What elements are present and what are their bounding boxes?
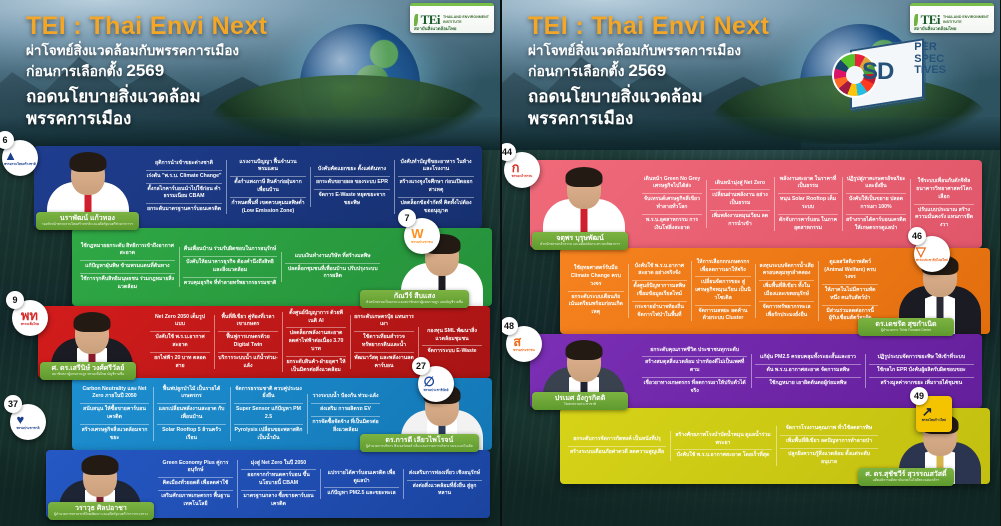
policy-point: กระจายอำนาจท้องถิ่น จัดการไฟป่าในพื้นที่ xyxy=(632,301,688,322)
infographic-board: TEI : Thai Envi Next ผ่าโจทย์สิ่งแวดล้อม… xyxy=(0,0,1001,526)
party-logo-mark: Wพรรคประชาชน xyxy=(411,227,432,244)
policy-point: บังคับใช้ พ.ร.บ.อากาศสะอาด อย่างจริงจัง xyxy=(632,261,688,281)
policy-cell[interactable]: แรงงานปัญญา ฟื้นจำนวนพรมแดนตั้งกำแพงภาษี… xyxy=(226,154,310,221)
hero-subtitle-3: ถอดนโยบายสิ่งแวดล้อม xyxy=(26,86,267,108)
policy-point: ออกจากกำหนดคาร์บอน ขึ้นนโยบายนี้ CBAM xyxy=(241,469,316,490)
party-logo-sub: พรรคประชาธิปไตยใหม่ xyxy=(916,259,948,262)
party-number-badge: 6 xyxy=(0,131,14,149)
policy-point: ใช้การรุกคืบสิทธิมนุษยชน ร่วมกฎหมายสิ่งแ… xyxy=(80,273,175,294)
politician-name-bar: ศ. ดร.เสรีนิษ์ วงศ์ศรีวัลย์สมาชิกสภาผู้แ… xyxy=(40,362,136,380)
policy-cell[interactable]: ปฏิรูประบบจัดการขยะพิษ ให้เข้าที่ระบบใช้… xyxy=(865,349,978,392)
policy-point: สร้างศักยภาพโรงบำบัดน้ำหมุน ดูแลน้ำร่วมพ… xyxy=(674,430,772,450)
tei-logo-sub-th: สถาบันสิ่งแวดล้อมไทย xyxy=(414,25,456,32)
policy-point: บริการระบบน้ำ แก้น้ำท่วม-แล้ง xyxy=(218,352,278,373)
politician-position: สมาชิกสภาผู้แทนราษฎร พรรคเพื่อไทย บัญชีร… xyxy=(46,373,130,377)
policy-cell[interactable]: แก้ฝุ่น PM2.5 ครอบคลุมทั้งระยะสั้นและยาว… xyxy=(751,349,864,392)
policy-cell-group: Carbon Neutrality และ Net Zero ภายในปี 2… xyxy=(72,378,388,450)
policy-cell[interactable]: เดินหน้ามุ่งสู่ Net Zeroเปลี่ยนผ่านพลังง… xyxy=(706,175,774,234)
policy-point: ตั้งกลไกคาร์บอนนำไปใช้ก่อน คำธรรมเนียม C… xyxy=(146,183,222,204)
policy-point: แก้ฝุ่น PM2.5 ครอบคลุมทั้งระยะสั้นและยาว xyxy=(755,352,860,364)
policy-point: เดินหน้ามุ่งสู่ Net Zero xyxy=(710,178,770,190)
policy-cell[interactable]: ส่งเสริมการท่องเที่ยว เชิงอนุรักษ์ส่งต่อ… xyxy=(403,465,486,503)
portrait-hair xyxy=(70,152,107,172)
party-logo-pcc-logo[interactable]: ♥พรรคประชาชาติ37 xyxy=(10,404,46,440)
politician-position: รองหัวหน้าพรรครวมไทยสร้างชาติ และอดีตรัฐ… xyxy=(42,223,133,227)
policy-point: เดินหน้า Green No Grey เศรษฐกิจไปได้ส่ง xyxy=(642,174,702,194)
hero-subtitle-2: ก่อนการเลือกตั้ง 2569 xyxy=(528,60,769,83)
policy-cell[interactable]: ลงทุนระบบจัดการน้ำเสีย ครอบคลุมทุกลำคลอง… xyxy=(755,258,819,325)
sd-word-1: PER xyxy=(914,42,946,54)
policy-point: บังคับทำบัญชีขยะอาหาร ในห้างและโรงงาน xyxy=(398,157,474,177)
policy-cell[interactable]: ใช้ระบบเพื่อนกับดักจิทัล ธนาคารวิทยาศาสต… xyxy=(910,173,978,235)
policy-point: ปลดล็อกพลังงานสะอาด ลดค่าไฟฟ้าต่อเนื่อง … xyxy=(286,327,346,355)
hero-year-prefix: ก่อนการเลือกตั้ง xyxy=(528,63,628,79)
policy-point: ยกระดับขยายผล ของระบบ EPR xyxy=(314,176,390,189)
policy-point: มุ่งสู่ Net Zero ในปี 2050 xyxy=(241,458,316,470)
policy-point: วางระบบน้ำ ป้องกัน ท่วม-แล้ง xyxy=(311,391,380,403)
politician-position: ผู้อำนวยการพรรคชาติไทยพัฒนา และอดีตรัฐมน… xyxy=(54,513,148,517)
policy-point: ส่งเสริม การผลิตรถ EV xyxy=(311,403,380,416)
right-panel: TEI : Thai Envi Next ผ่าโจทย์สิ่งแวดล้อม… xyxy=(500,0,1000,526)
portrait-hair xyxy=(566,167,603,187)
policy-point: ให้การเลือกกกเกษตรกร เพื่อลดการเผาให้จริ… xyxy=(695,257,751,277)
policy-point: แปรรายได้คาร์บอนเครดิต เพื่อดูแลป่า xyxy=(324,468,399,488)
policy-point: สร้างระบบเดือนภัยค่าตวดี ลดความสูญเสีย xyxy=(568,446,666,459)
policy-cell[interactable]: Carbon Neutrality และ Net Zero ภายในปี 2… xyxy=(76,381,153,448)
policy-point: ตั้งกำแพงภาษี สินค้าก่อฝุ่นจากเพื่อนบ้าน xyxy=(230,176,306,197)
politician-name-bar: ปรเมศ อังกูรกิตติโฆษกพรรคประชาชาติ xyxy=(532,392,628,410)
politician-name-bar: ดร.เดชรัต สุขกำเนิดผู้อำนวยการ Think For… xyxy=(858,318,954,336)
party-logo-dem-logo[interactable]: ∅พรรคประชาธิปัตย์27 xyxy=(418,366,454,402)
policy-point: ใช้กฎหมายยกระดับ สิทธิการเข้าถึงอากาศสะอ… xyxy=(80,241,175,261)
politician-position: ผู้อำนวยการบริหาร ฟิวเจอร์เทลส์ แล็บ และ… xyxy=(366,445,473,449)
hero-text-block: TEI : Thai Envi Next ผ่าโจทย์สิ่งแวดล้อม… xyxy=(26,12,267,130)
policy-point: สร้างแรงจูงใจศึกษา ก่อนเปิดออกสาเหตุ xyxy=(398,176,474,197)
page-title: TEI : Thai Envi Next xyxy=(528,12,769,41)
policy-point: ส่งเสริมการท่องเที่ยว เชิงอนุรักษ์ xyxy=(407,468,482,480)
policy-cell-group: ยุติการนำเข้าขยะต่างชาติเร่งดัน "พ.ร.บ. … xyxy=(138,146,482,228)
party-logo-mark: ▲พรรครวมไทยสร้างชาติ xyxy=(4,149,36,166)
party-logo-mark: สพรรคประชาชน xyxy=(513,335,534,352)
policy-cell[interactable]: พลังงานสะอาด ในราคาที่เป็นธรรมหนุน Solar… xyxy=(774,171,842,238)
policy-point: จัดการ E-Waste หยุดขยะจากขยะพิษ xyxy=(314,189,390,210)
politician-name-bar: นราพัฒน์ แก้วทองรองหัวหน้าพรรครวมไทยสร้า… xyxy=(36,212,139,230)
policy-point: ดูแลสวัสดิภาพสัตว์ (Animal Welfare) ครบว… xyxy=(822,257,878,284)
policy-cell[interactable]: สร้างศักยภาพโรงบำบัดน้ำหมุน ดูแลน้ำร่วมพ… xyxy=(670,427,776,465)
policy-point: ยกระดับระบบเตือนภัย เน้นเตรียมพร้อมก่อนเ… xyxy=(568,291,624,319)
policy-point: กำหนดพื้นที่ เขตควบคุมมลพิษต่ำ (Low Emis… xyxy=(230,197,306,218)
policy-point: ยกระดับสินค้า-ฝ่ายอุตฯ ให้เป็นมิตรต่อสิ่… xyxy=(286,356,346,377)
politician-name-bar: จตุพร บุรุษพัฒน์หัวหน้าพรรคกล้าธรรม และอ… xyxy=(532,232,628,250)
party-number-badge: 9 xyxy=(6,291,24,309)
policy-point: ยกระดับคุณภาพชีวิต ประชาชนทุกระดับ xyxy=(642,345,747,357)
policy-cell[interactable]: จัดการธรรมชาติ ควบคู่ประมงยั่งยืนSuper S… xyxy=(230,381,307,448)
policy-point: ใช้ยุทธศาสตร์รับมือ Climate Change ครบวง… xyxy=(568,263,624,290)
policy-cell[interactable]: วางระบบน้ำ ป้องกัน ท่วม-แล้งส่งเสริม การ… xyxy=(307,388,384,439)
party-number-badge: 44 xyxy=(500,143,516,161)
party-number-badge: 7 xyxy=(398,209,416,227)
policy-point: สร้างเศรษฐกิจสิ่งแวดล้อมจากขยะ xyxy=(80,424,149,445)
politician-position: ผู้อำนวยการ Think Forward Center xyxy=(864,329,948,333)
policy-point: ปลดล็อกชุมชนที่เพื่อนบ้าน ปรับปรุงระบบกา… xyxy=(285,263,380,284)
policy-point: บังคับคัดแยกขยะ ตั้งแต่ต้นทาง xyxy=(314,164,390,176)
policy-point: เร่งดัน "พ.ร.บ. Climate Change" xyxy=(146,170,222,183)
policy-cell[interactable]: ยุติการนำเข้าขยะต่างชาติเร่งดัน "พ.ร.บ. … xyxy=(142,155,226,219)
policy-cell[interactable]: เดินหน้า Green No Grey เศรษฐกิจไปได้ส่งจ… xyxy=(638,171,706,238)
policy-point: แรงงานปัญญา ฟื้นจำนวนพรมแดน xyxy=(230,157,306,177)
policy-cell[interactable]: ใช้กฎหมายยกระดับ สิทธิการเข้าถึงอากาศสะอ… xyxy=(76,238,179,297)
politician-name-bar: กัณวีร์ สืบแสงหัวหน้าพรรคเป็นธรรม และสมา… xyxy=(360,290,469,308)
policy-point: ยกระดับเกษตรปุ๋ย แทนการเผา xyxy=(354,312,414,332)
party-logo-sub: พรรคประชาธิปัตย์ xyxy=(424,389,449,392)
leaf-icon xyxy=(414,14,418,26)
policy-point: ตั้งศูนย์ปัญญาการ ด้วยพีเนติ AI xyxy=(286,308,346,328)
policy-cell[interactable]: พื้นที่สีเขียว คู่ท้องที่เวลาเขาเกษตรฟื้… xyxy=(214,309,282,376)
policy-cell-group: Green Economy Plus คู่การอนุรักษ์คิดเมือ… xyxy=(150,450,490,518)
policy-point: สนับสนุน ให้ซื้อขายคาร์บอนเครดิต xyxy=(80,403,149,424)
portrait-hair xyxy=(566,340,603,360)
party-logo-mark: กพรรคกล้าธรรม xyxy=(512,161,533,178)
tei-logo-sub-en: THAILAND ENVIRONMENT INSTITUTE xyxy=(443,15,490,23)
hero-subtitle-3: ถอดนโยบายสิ่งแวดล้อม xyxy=(528,86,769,108)
leaf-icon xyxy=(914,14,918,26)
policy-cell[interactable]: กองทุน SML พัฒนาสิ่งแวดล้อมชุมชนจัดการระ… xyxy=(418,323,486,361)
policy-point: ดักจับการคาร์บอน ในภาคอุตสาหกรรม xyxy=(778,214,838,235)
policy-point: ดัน พ.ร.บ.อากาศสะอาด จัดการมลพิษ xyxy=(755,364,860,377)
party-logo-sub: พรรคประชาชาติ xyxy=(16,427,39,430)
hero-year: 2569 xyxy=(126,61,164,80)
party-logo-arrow-logo[interactable]: ↗พรรคไทยก้าวใหม่49 xyxy=(916,396,952,432)
hero-subtitle-4: พรรคการเมือง xyxy=(26,108,267,130)
policy-point: ปฏิรูปสู่ภาคเกษตรอัจฉริยะ และยั่งยืน xyxy=(846,174,906,194)
hero-subtitle-1: ผ่าโจทย์สิ่งแวดล้อมกับพรรคการเมือง xyxy=(528,42,769,60)
party-logo-mark: ↗พรรคไทยก้าวใหม่ xyxy=(922,405,947,422)
hero-subtitle-1: ผ่าโจทย์สิ่งแวดล้อมกับพรรคการเมือง xyxy=(26,42,267,60)
tei-logo-sub-th: สถาบันสิ่งแวดล้อมไทย xyxy=(914,25,956,32)
hero-year: 2569 xyxy=(628,61,666,80)
policy-point: แลกเปลี่ยนพลังงานสะอาด กับเพื่อนบ้าน xyxy=(157,403,226,424)
politician-position: อดีตอธิการบดีสถาบันเทคโนโลยีพระจอมเกล้าฯ xyxy=(864,479,948,483)
policy-cell-group: ยกระดับการจัดการกัดพงค์ เป็นหนังที่ปรุสร… xyxy=(560,408,886,484)
policy-cell[interactable]: ใช้ยุทธศาสตร์รับมือ Climate Change ครบวง… xyxy=(564,260,628,322)
policy-cell[interactable]: ยกระดับการจัดการกัดพงค์ เป็นหนังที่ปรุสร… xyxy=(564,431,670,462)
policy-point: แก้ปัญหาฝุ่นพิษ ข้ามพรมแดนที่ต้นทาง xyxy=(80,260,175,273)
portrait-hair xyxy=(82,455,119,475)
policy-cell[interactable]: ยกระดับเกษตรปุ๋ย แทนการเผาใช้ดาวเทียมสำร… xyxy=(350,309,418,376)
policy-cell[interactable]: ยกระดับคุณภาพชีวิต ประชาชนทุกระดับสร้างส… xyxy=(638,342,751,401)
party-logo-rtsc-logo[interactable]: ▲พรรครวมไทยสร้างชาติ6 xyxy=(2,140,38,176)
policy-cell-group: ใช้ยุทธศาสตร์รับมือ Climate Change ครบวง… xyxy=(560,248,886,334)
tei-logo: TEi THAILAND ENVIRONMENT INSTITUTE สถาบั… xyxy=(910,3,994,33)
politician-position: โฆษกพรรคประชาชาติ xyxy=(538,403,622,407)
party-logo-mark: ∅พรรคประชาธิปัตย์ xyxy=(424,375,449,392)
left-panel: TEI : Thai Envi Next ผ่าโจทย์สิ่งแวดล้อม… xyxy=(0,0,500,526)
policy-point: เพิ่มพื้นที่สีเขียว ทั้งในเมืองและเขตอนุ… xyxy=(759,280,815,301)
policy-point: ปฏิรูประบบจัดการขยะพิษ ให้เข้าที่ระบบ xyxy=(869,352,974,364)
policy-point: ยกไฟฟ้า 20 บาท ตลอดสาย xyxy=(150,352,210,373)
policy-point: พัฒนาวัสดุ และพลังงานลดคาร์บอน xyxy=(354,352,414,373)
policy-point: ปลูกฝังความรู้สิ่งแวดล้อม ตั้งแต่ระดับอน… xyxy=(780,448,878,469)
party-number-badge: 37 xyxy=(4,395,22,413)
sd-logo-words: PER SPEC TIVES xyxy=(914,42,946,77)
party-logo-pp-logo[interactable]: ▽พรรคประชาธิปไตยใหม่46 xyxy=(914,236,950,272)
policy-point: บังคับใช้ พ.ร.บ.อากาศสะอาด xyxy=(150,331,210,352)
policy-cell[interactable]: ปฏิรูปสู่ภาคเกษตรอัจฉริยะ และยั่งยืนบังค… xyxy=(842,171,910,238)
policy-point: ใช้กฎหมาย เอาผิดต้นตอผู้ก่อมลพิษ xyxy=(755,377,860,390)
politician-name-bar: ศ. ดร.สุชัชวีร์ สุวรรณสวัสดิ์อดีตอธิการบ… xyxy=(858,468,954,486)
policy-cell-group: เดินหน้า Green No Grey เศรษฐกิจไปได้ส่งจ… xyxy=(634,160,982,248)
policy-point: ปรับแบบประมาณ สร้างความมั่นคงรัง แทนการย… xyxy=(914,204,974,232)
policy-point: จัดการมลพยะ ลดค้าน ด้วยระบบ Cluster xyxy=(695,305,751,326)
policy-cell[interactable]: ให้การเลือกกกเกษตรกร เพื่อลดการเผาให้จริ… xyxy=(691,254,755,329)
policy-point: ยุติการนำเข้าขยะต่างชาติ xyxy=(146,158,222,170)
policy-point: ใช้ดาวเทียมสำรวจ ทรัพยากรดินและน้ำ xyxy=(354,331,414,352)
policy-point: คิดเมืองทั่วยอดดี เพื่อลดค่าใช้ xyxy=(158,477,233,490)
party-logo-sub: พรรคประชาชน xyxy=(411,241,432,244)
policy-point: เพิ่มพลังงานหมุนเวียน ลดการนำเข้า xyxy=(710,210,770,231)
policy-cell[interactable]: Green Economy Plus คู่การอนุรักษ์คิดเมือ… xyxy=(154,455,237,514)
policy-cell[interactable]: คืนเพื่อนบ้าน ร่วมรับผิดชอบในการอนุรักษ์… xyxy=(179,241,282,292)
party-logo-sub: พรรคกล้าธรรม xyxy=(512,175,533,178)
policy-point: จัดการโรงงานคุณภาพ ทั่วใช้ลดสารพิษ xyxy=(780,423,878,435)
policy-point: แก้ปัญหา PM2.5 และขยะทะเล xyxy=(324,487,399,500)
policy-point: ตั้งศูนย์ปัญหาการมลพิษ เชื่อมข้อมูลเรียล… xyxy=(632,280,688,301)
policy-point: ยกระดับการจัดการกัดพงค์ เป็นหนังที่ปรุ xyxy=(568,434,666,446)
hero-subtitle-2: ก่อนการเลือกตั้ง 2569 xyxy=(26,60,267,83)
policy-point: จัดการธรรมชาติ ควบคู่ประมงยั่งยืน xyxy=(234,384,303,404)
policy-point: สร้างรายได้คาร์บอนเครดิต ให้เกษตรกรดูแลป… xyxy=(846,214,906,235)
policy-cell[interactable]: Net Zero 2050 เต็มรูปแบบบังคับใช้ พ.ร.บ.… xyxy=(146,309,214,376)
tei-logo: TEi THAILAND ENVIRONMENT INSTITUTE สถาบั… xyxy=(410,3,494,33)
party-logo-pt-logo[interactable]: พทพรรคเพื่อไทย9 xyxy=(12,300,48,336)
policy-cell[interactable]: แปรรายได้คาร์บอนเครดิต เพื่อดูแลป่าแก้ปั… xyxy=(320,465,403,503)
policy-point: จัดการระบบ E-Waste xyxy=(422,345,482,358)
sd-logo-mark: SD xyxy=(862,58,893,86)
policy-point: ลงทุนระบบจัดการน้ำเสีย ครอบคลุมทุกลำคลอง xyxy=(759,261,815,281)
policy-point: มาตรฐานกลาง ซื้อขายคาร์บอนเครดิต xyxy=(241,490,316,511)
sd-word-3: TIVES xyxy=(914,65,946,77)
policy-cell[interactable]: บังคับใช้ พ.ร.บ.อากาศสะอาด อย่างจริงจังต… xyxy=(628,258,692,325)
policy-cell[interactable]: บังคับคัดแยกขยะ ตั้งแต่ต้นทางยกระดับขยาย… xyxy=(310,161,394,212)
policy-point: เพิ่มพื้นที่สีเขียว ลดปัญหาการทำลายป่า xyxy=(780,435,878,448)
policy-cell[interactable]: จัดการโรงงานคุณภาพ ทั่วใช้ลดสารพิษเพิ่มพ… xyxy=(776,420,882,471)
policy-point: ฟื้นฟปลูกป่าไม้ เป็นรายได้เกษตรกร xyxy=(157,384,226,404)
party-logo-sub: พรรคไทยก้าวใหม่ xyxy=(922,419,947,422)
politician-position: หัวหน้าพรรคกล้าธรรม และอดีตปลัดกระทรวงทร… xyxy=(538,243,622,247)
policy-point: เปลี่ยนจัดการขยะ สู่เศรษฐกิจหมุนเวียน เป… xyxy=(695,276,751,304)
policy-point: เสริมศักยภาพเกษตรกร พื้นฐานเทคโนโลยี xyxy=(158,490,233,511)
policy-point: ใช้ระบบเพื่อนกับดักจิทัล ธนาคารวิทยาศาสต… xyxy=(914,176,974,203)
policy-point: บังคับใช้ พ.ร.บ.อากาศสะอาด โดยเร็วที่สุด xyxy=(674,449,772,462)
policy-cell[interactable]: ตั้งศูนย์ปัญญาการ ด้วยพีเนติ AIปลดล็อกพล… xyxy=(282,305,350,380)
politician-position: หัวหน้าพรรคเป็นธรรม และสมาชิกสภาผู้แทนรา… xyxy=(366,301,463,305)
policy-point: พลังงานสะอาด ในราคาที่เป็นธรรม xyxy=(778,174,838,194)
policy-cell-group: ใช้กฎหมายยกระดับ สิทธิการเข้าถึงอากาศสะอ… xyxy=(72,228,388,306)
policy-point: บังคับให้ธนาคารธุรกิจ ต้องคำนึงถึงสิทธิแ… xyxy=(183,256,278,277)
policy-point: ควบคุมธุรกิจ ที่ทำลายทรัพยากรธรรมชาติ xyxy=(183,277,278,290)
party-number-badge: 48 xyxy=(500,317,518,335)
party-number-badge: 46 xyxy=(908,227,926,245)
policy-point: แบบเงินทำงานบริษัท ที่สร้างมลพิษ xyxy=(285,251,380,263)
policy-point: ฟื้นฟูการเกษตรด้วย Digital Twin xyxy=(218,331,278,352)
party-logo-sub: พรรครวมไทยสร้างชาติ xyxy=(4,163,36,166)
hero-subtitle-4: พรรคการเมือง xyxy=(528,108,769,130)
politician-name-bar: วราวุธ ศิลปอาชาผู้อำนวยการพรรคชาติไทยพัฒ… xyxy=(48,502,154,520)
policy-point: จัดการทรัพยากรทะเล เพื่อรักประมงยั่งยืน xyxy=(759,301,815,322)
policy-point: เชื่อวยาทางเกษตรกร ที่ลดการเผาให้ปรับตัว… xyxy=(642,377,747,398)
policy-point: คืนเพื่อนบ้าน ร่วมรับผิดชอบในการอนุรักษ์ xyxy=(183,244,278,256)
policy-point: Super Sensor แก้ปัญหา PM 2.5 xyxy=(234,403,303,424)
party-logo-kt-logo[interactable]: กพรรคกล้าธรรม44 xyxy=(504,152,540,188)
policy-point: เปลี่ยนผ่านพลังงาน อย่างเป็นธรรม xyxy=(710,189,770,210)
policy-point: ให้ภาคในไม่มีความทัดหนึ่ง คนกับสัตว์ป่า xyxy=(822,284,878,305)
policy-point: Solar Rooftop 5 ล้านครัวเรือน xyxy=(157,424,226,445)
policy-point: Net Zero 2050 เต็มรูปแบบ xyxy=(150,312,210,332)
policy-point: หนุน Solar Rooftop เต็มระบบ xyxy=(778,193,838,214)
sd-perspectives-logo: SD PER SPEC TIVES xyxy=(832,34,944,112)
party-logo-mark: ▽พรรคประชาธิปไตยใหม่ xyxy=(916,245,948,262)
policy-cell[interactable]: แบบเงินทำงานบริษัท ที่สร้างมลพิษปลดล็อกช… xyxy=(281,248,384,286)
policy-point: สร้างสมดุลสิ่งแวดล้อม ปากท้องดีไม่เป็นเพ… xyxy=(642,356,747,377)
policy-cell[interactable]: มุ่งสู่ Net Zero ในปี 2050ออกจากกำหนดคาร… xyxy=(237,455,320,514)
party-logo-mark: ♥พรรคประชาชาติ xyxy=(16,413,39,430)
party-number-badge: 27 xyxy=(412,357,430,375)
policy-point: ยกระดับมาตรฐานคาร์บอนเครดิต xyxy=(146,203,222,216)
policy-point: พ.ร.บ.อุตสาหกรรม การเงินโฟลิ่งสะอาด xyxy=(642,214,702,235)
party-logo-sub: พรรคประชาชน xyxy=(513,349,534,352)
policy-point: พื้นที่สีเขียว คู่ท้องที่เวลาเขาเกษตร xyxy=(218,312,278,332)
policy-point: จับเทรนด์เศรษฐกิจสีเขียว ทำลายทั่วโลก xyxy=(642,193,702,214)
politician-name-bar: ดร.การดี เลียวไพโรจน์ผู้อำนวยการบริหาร ฟ… xyxy=(360,434,479,452)
party-logo-pcm-logo[interactable]: สพรรคประชาชน48 xyxy=(506,326,542,362)
party-number-badge: 49 xyxy=(910,387,928,405)
policy-point: บังคับให้เป็นขยาย ปลอดการเผา 100% xyxy=(846,193,906,214)
party-logo-w-logo[interactable]: Wพรรคประชาชน7 xyxy=(404,218,440,254)
policy-point: ใช้กลไก EPR บังคับผู้ผลิตรับผิดชอบขยะ xyxy=(869,364,974,377)
hero-text-block: TEI : Thai Envi Next ผ่าโจทย์สิ่งแวดล้อม… xyxy=(528,12,769,130)
tei-logo-sub-en: THAILAND ENVIRONMENT INSTITUTE xyxy=(943,15,990,23)
policy-cell[interactable]: ฟื้นฟปลูกป่าไม้ เป็นรายได้เกษตรกรแลกเปลี… xyxy=(153,381,230,448)
party-logo-mark: พทพรรคเพื่อไทย xyxy=(21,309,39,326)
portrait-hair xyxy=(74,312,111,332)
policy-point: ส่งต่อสิ่งแวดล้อมที่ยั่งยืน สู่ลูกหลาน xyxy=(407,480,482,501)
hero-year-prefix: ก่อนการเลือกตั้ง xyxy=(26,63,126,79)
party-logo-sub: พรรคเพื่อไทย xyxy=(21,323,39,326)
policy-point: Green Economy Plus คู่การอนุรักษ์ xyxy=(158,458,233,478)
policy-point: กองทุน SML พัฒนาสิ่งแวดล้อมชุมชน xyxy=(422,326,482,346)
policy-point: Pyrolysis เปลี่ยนขยะพลาสติก เป็นน้ำมัน xyxy=(234,424,303,445)
page-title: TEI : Thai Envi Next xyxy=(26,12,267,41)
policy-point: Carbon Neutrality และ Net Zero ภายในปี 2… xyxy=(80,384,149,404)
